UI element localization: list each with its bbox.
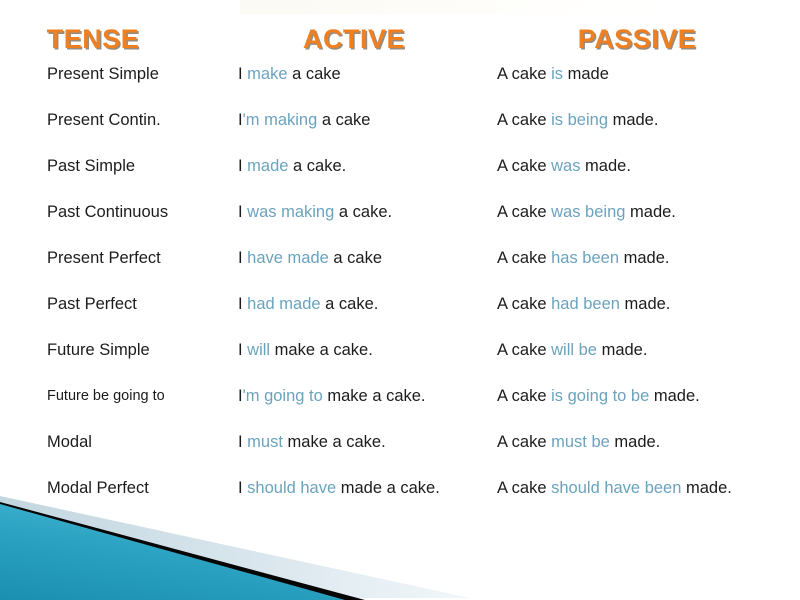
passive-prefix: A cake	[497, 249, 551, 267]
passive-prefix: A cake	[497, 157, 551, 175]
active-suffix: make a cake.	[270, 341, 373, 359]
passive-highlighted-verb: will be	[551, 341, 597, 359]
passive-suffix: made.	[608, 111, 658, 129]
passive-prefix: A cake	[497, 65, 551, 83]
cell-passive: A cake has been made.	[497, 248, 792, 269]
passive-highlighted-verb: was being	[551, 203, 625, 221]
cell-active: I'm making a cake	[238, 110, 488, 131]
cell-active: I should have made a cake.	[238, 478, 488, 499]
table-row: Modal PerfectI should have made a cake.A…	[0, 478, 800, 534]
active-suffix: a cake	[288, 65, 341, 83]
active-prefix: I	[238, 203, 247, 221]
passive-highlighted-verb: should have been	[551, 479, 681, 497]
passive-highlighted-verb: had been	[551, 295, 620, 313]
table-row: ModalI must make a cake.A cake must be m…	[0, 432, 800, 478]
cell-passive: A cake is made	[497, 64, 792, 85]
column-header-tense: TENSE	[0, 24, 186, 55]
passive-prefix: A cake	[497, 387, 551, 405]
cell-active: I had made a cake.	[238, 294, 488, 315]
table-row: Present SimpleI make a cakeA cake is mad…	[0, 64, 800, 110]
cell-active: I make a cake	[238, 64, 488, 85]
cell-tense: Future be going to	[47, 386, 232, 407]
active-prefix: I	[238, 433, 247, 451]
cell-active: I made a cake.	[238, 156, 488, 177]
active-suffix: a cake	[317, 111, 370, 129]
column-header-active: ACTIVE	[232, 24, 476, 55]
cell-active: I must make a cake.	[238, 432, 488, 453]
title-strip-remnant	[240, 0, 670, 14]
active-prefix: I	[238, 249, 247, 267]
active-highlighted-verb: must	[247, 433, 283, 451]
cell-tense: Present Simple	[47, 64, 232, 85]
cell-tense: Present Contin.	[47, 110, 232, 131]
active-suffix: a cake	[329, 249, 382, 267]
cell-passive: A cake was made.	[497, 156, 792, 177]
passive-highlighted-verb: was	[551, 157, 580, 175]
active-suffix: a cake.	[334, 203, 392, 221]
column-header-passive: PASSIVE	[492, 24, 782, 55]
table-row: Future be going toI'm going to make a ca…	[0, 386, 800, 432]
cell-passive: A cake had been made.	[497, 294, 792, 315]
active-suffix: made a cake.	[336, 479, 440, 497]
cell-passive: A cake should have been made.	[497, 478, 792, 499]
cell-passive: A cake will be made.	[497, 340, 792, 361]
active-suffix: make a cake.	[323, 387, 426, 405]
table-row: Past SimpleI made a cake.A cake was made…	[0, 156, 800, 202]
passive-suffix: made	[563, 65, 609, 83]
table-header-row: TENSE ACTIVE PASSIVE	[0, 24, 800, 58]
table-row: Present Contin.I'm making a cakeA cake i…	[0, 110, 800, 156]
passive-highlighted-verb: has been	[551, 249, 619, 267]
passive-highlighted-verb: is being	[551, 111, 608, 129]
passive-suffix: made.	[625, 203, 675, 221]
cell-tense: Past Simple	[47, 156, 232, 177]
table-body: Present SimpleI make a cakeA cake is mad…	[0, 64, 800, 534]
active-prefix: I	[238, 341, 247, 359]
passive-suffix: made.	[610, 433, 660, 451]
cell-active: I will make a cake.	[238, 340, 488, 361]
active-suffix: make a cake.	[283, 433, 386, 451]
passive-highlighted-verb: is going to be	[551, 387, 649, 405]
passive-suffix: made.	[597, 341, 647, 359]
active-suffix: a cake.	[288, 157, 346, 175]
passive-suffix: made.	[649, 387, 699, 405]
cell-passive: A cake is being made.	[497, 110, 792, 131]
cell-active: I was making a cake.	[238, 202, 488, 223]
passive-suffix: made.	[580, 157, 630, 175]
table-row: Past ContinuousI was making a cake.A cak…	[0, 202, 800, 248]
cell-tense: Past Perfect	[47, 294, 232, 315]
cell-passive: A cake must be made.	[497, 432, 792, 453]
active-suffix: a cake.	[321, 295, 379, 313]
cell-passive: A cake is going to be made.	[497, 386, 792, 407]
active-highlighted-verb: will	[247, 341, 270, 359]
passive-prefix: A cake	[497, 341, 551, 359]
passive-suffix: made.	[681, 479, 731, 497]
cell-tense: Present Perfect	[47, 248, 232, 269]
active-highlighted-verb: was making	[247, 203, 334, 221]
table-row: Present PerfectI have made a cakeA cake …	[0, 248, 800, 294]
active-highlighted-verb: had made	[247, 295, 320, 313]
active-prefix: I	[238, 295, 247, 313]
active-highlighted-verb: 'm making	[243, 111, 318, 129]
passive-highlighted-verb: must be	[551, 433, 610, 451]
active-highlighted-verb: 'm going to	[243, 387, 323, 405]
active-prefix: I	[238, 157, 247, 175]
active-highlighted-verb: made	[247, 157, 288, 175]
active-prefix: I	[238, 479, 247, 497]
slide-canvas: TENSE ACTIVE PASSIVE Present SimpleI mak…	[0, 0, 800, 600]
cell-active: I have made a cake	[238, 248, 488, 269]
active-highlighted-verb: have made	[247, 249, 329, 267]
active-highlighted-verb: make	[247, 65, 287, 83]
passive-highlighted-verb: is	[551, 65, 563, 83]
cell-tense: Past Continuous	[47, 202, 232, 223]
active-highlighted-verb: should have	[247, 479, 336, 497]
active-prefix: I	[238, 65, 247, 83]
table-row: Future SimpleI will make a cake.A cake w…	[0, 340, 800, 386]
cell-active: I'm going to make a cake.	[238, 386, 488, 407]
passive-prefix: A cake	[497, 479, 551, 497]
cell-tense: Modal Perfect	[47, 478, 232, 499]
passive-prefix: A cake	[497, 433, 551, 451]
cell-passive: A cake was being made.	[497, 202, 792, 223]
passive-suffix: made.	[619, 249, 669, 267]
passive-prefix: A cake	[497, 295, 551, 313]
cell-tense: Future Simple	[47, 340, 232, 361]
table-row: Past PerfectI had made a cake.A cake had…	[0, 294, 800, 340]
passive-prefix: A cake	[497, 111, 551, 129]
passive-suffix: made.	[620, 295, 670, 313]
passive-prefix: A cake	[497, 203, 551, 221]
cell-tense: Modal	[47, 432, 232, 453]
